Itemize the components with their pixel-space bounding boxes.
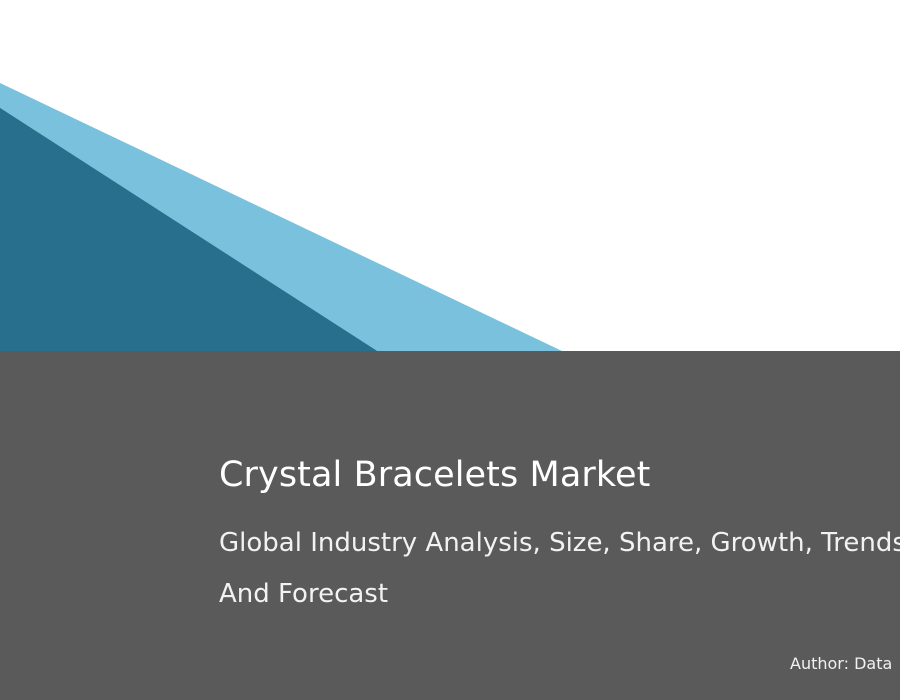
gray-panel (0, 351, 900, 700)
decorative-geometry (0, 0, 900, 700)
presentation-slide: Crystal Bracelets Market Global Industry… (0, 0, 900, 700)
